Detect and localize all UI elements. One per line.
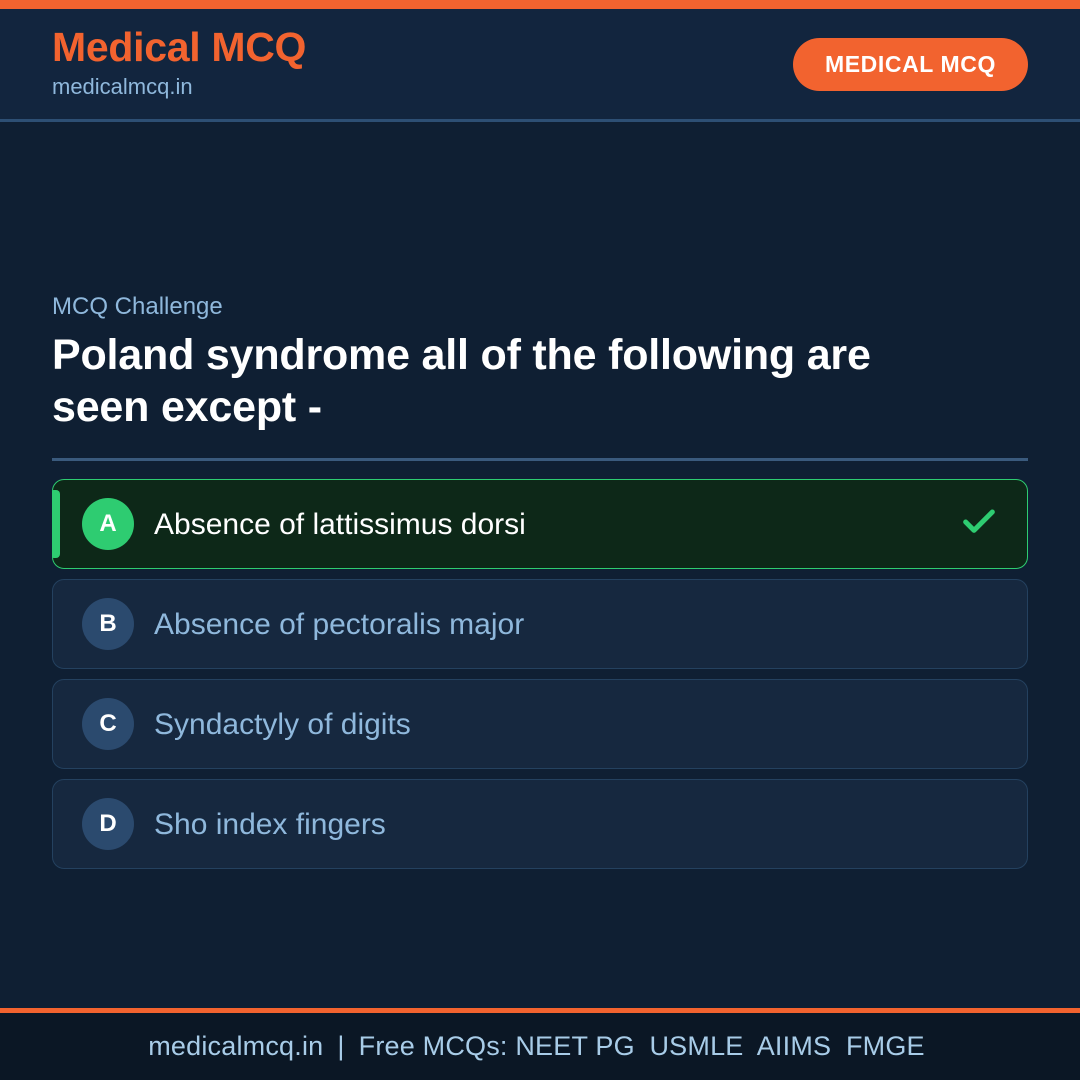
option-letter-badge: C [82, 698, 134, 750]
main-content: MCQ Challenge Poland syndrome all of the… [0, 122, 1080, 1008]
header-badge[interactable]: MEDICAL MCQ [793, 38, 1028, 91]
page-header: Medical MCQ medicalmcq.in MEDICAL MCQ [0, 9, 1080, 122]
question-text: Poland syndrome all of the following are… [52, 330, 902, 433]
question-eyebrow: MCQ Challenge [52, 291, 1028, 322]
footer-tag[interactable]: NEET PG [508, 1031, 642, 1061]
question-divider [52, 458, 1028, 461]
question-block: MCQ Challenge Poland syndrome all of the… [52, 291, 1028, 433]
footer-separator: | [323, 1031, 358, 1061]
brand-subtitle: medicalmcq.in [52, 72, 306, 102]
mcq-card-page: Medical MCQ medicalmcq.in MEDICAL MCQ MC… [0, 0, 1080, 1080]
option-b[interactable]: B Absence of pectoralis major [52, 579, 1028, 669]
option-d[interactable]: D Sho index fingers [52, 779, 1028, 869]
brand: Medical MCQ medicalmcq.in [52, 26, 306, 101]
brand-title: Medical MCQ [52, 26, 306, 69]
option-c[interactable]: C Syndactyly of digits [52, 679, 1028, 769]
footer-tag[interactable]: AIIMS [751, 1031, 839, 1061]
option-label: Syndactyly of digits [154, 706, 999, 744]
option-letter-badge: D [82, 798, 134, 850]
page-footer: medicalmcq.in|Free MCQs: NEET PG USMLE A… [0, 1008, 1080, 1080]
footer-text: medicalmcq.in|Free MCQs: NEET PG USMLE A… [148, 1031, 932, 1062]
option-label: Absence of lattissimus dorsi [154, 506, 959, 544]
footer-site[interactable]: medicalmcq.in [148, 1031, 323, 1061]
footer-tag[interactable]: FMGE [838, 1031, 932, 1061]
option-a[interactable]: A Absence of lattissimus dorsi [52, 479, 1028, 569]
footer-label: Free MCQs: [359, 1031, 508, 1061]
option-letter-badge: B [82, 598, 134, 650]
check-icon [959, 502, 999, 547]
option-label: Absence of pectoralis major [154, 606, 999, 644]
correct-accent-bar [53, 490, 60, 558]
option-label: Sho index fingers [154, 806, 999, 844]
footer-tags: NEET PG USMLE AIIMS FMGE [508, 1031, 932, 1061]
option-letter-badge: A [82, 498, 134, 550]
top-accent-bar [0, 0, 1080, 9]
options-list: A Absence of lattissimus dorsi B Absence… [52, 479, 1028, 869]
footer-tag[interactable]: USMLE [642, 1031, 751, 1061]
